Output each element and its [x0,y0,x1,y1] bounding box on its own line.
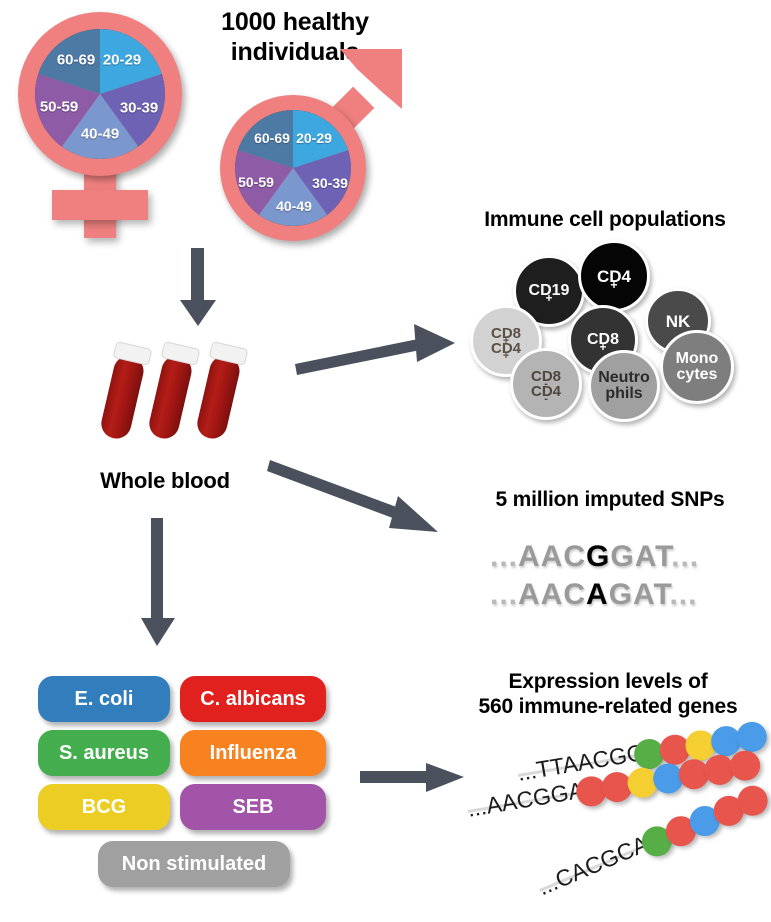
gene-strand-bead [709,791,748,830]
gene-strand-bead [702,753,737,788]
blood-tube-3 [191,342,247,443]
stimulus-pill-label: C. albicans [200,688,306,711]
figure-canvas: 1000 healthy individuals 20-29 30-39 40-… [0,0,771,922]
gene-strand-bead [651,761,686,796]
gene-strand-bead [574,774,609,809]
stimulus-pill-label: SEB [232,796,273,819]
snp-row1-left: AAC [518,540,586,573]
female-symbol-crossbar [52,190,148,220]
gene-strand-bead [733,781,771,820]
snp-title: 5 million imputed SNPs [460,488,760,513]
gene-strand-sequence: ...AACGGAT [465,775,598,823]
gene-strand-bead [661,812,700,851]
gene-strand-backbone [468,761,760,813]
female-symbol: 20-29 30-39 40-49 50-59 60-69 [8,8,198,238]
gene-strand-sequence: ...CACGCAA [534,824,667,901]
arrow-down-blood-to-stimuli [138,518,178,648]
blood-tubes-svg [100,340,280,460]
immune-cell-cd8-cd4: CD8+CD4+ [470,305,542,377]
stimulus-pill-non-stimulated[interactable]: Non stimulated [98,841,290,887]
male-pie-label-50-59: 50-59 [238,174,274,190]
snp-row2-right: GAT [609,578,670,611]
snp-row1-prefix: ... [490,540,518,573]
gene-strand-bead [728,748,763,783]
gene-strand-bead [600,770,635,805]
immune-cell-label: CD8-CD4- [531,369,561,399]
gene-strand-bead [677,757,712,792]
snp-sequence-row-2: ...AACAGAT... [490,578,697,612]
immune-cell-cd19: CD19+ [513,255,585,327]
male-symbol: 20-29 30-39 40-49 50-59 60-69 [206,45,406,245]
snp-row2-variant: A [586,578,609,611]
gene-strand-bead [625,766,660,801]
snp-sequence-row-1: ...AACGGAT... [490,540,699,574]
whole-blood-label: Whole blood [75,468,255,494]
female-pie-label-60-69: 60-69 [57,52,95,69]
immune-cell-label: CD4+ [597,268,631,285]
immune-cell-label: CD8+CD4+ [491,326,521,356]
expression-title-line2: 560 immune-related genes [452,695,764,720]
stimulus-pill-s-aureus[interactable]: S. aureus [38,730,170,776]
male-pie-label-40-49: 40-49 [276,198,312,214]
cohort-title-line1: 1000 healthy [170,8,420,38]
arrow-stimuli-to-expression [360,760,470,796]
immune-cell-neutrophils: Neutrophils [588,350,660,422]
gene-strand-bead [709,724,744,759]
stimulus-pill-label: Non stimulated [122,853,266,876]
immune-cell-label: Monocytes [676,351,719,383]
expression-title-line1: Expression levels of [452,670,764,695]
stimulus-pill-label: Influenza [210,742,297,765]
gene-strand-bead [632,737,667,772]
immune-cell-cd4: CD4+ [578,240,650,312]
snp-row2-suffix: ... [669,578,697,611]
gene-strand-bead [685,801,724,840]
male-pie-label-30-39: 30-39 [312,175,348,191]
gene-strand-backbone [518,732,767,777]
stimulus-pill-seb[interactable]: SEB [180,784,326,830]
gene-strand-backbone [539,793,767,892]
expression-title: Expression levels of 560 immune-related … [452,670,764,720]
immune-cell-label: Neutrophils [598,370,650,402]
arrow-down-cohort-to-blood [178,248,218,328]
stimulus-pill-label: S. aureus [59,742,149,765]
snp-row2-left: AAC [518,578,586,611]
stimulus-pill-label: E. coli [75,688,134,711]
male-pie-label-20-29: 20-29 [296,130,332,146]
snp-row1-right: GAT [610,540,671,573]
gene-strand-sequence: ...TTAACGG [515,739,646,787]
male-pie-label-60-69: 60-69 [254,130,290,146]
gene-strand-bead [683,728,718,763]
female-pie-label-40-49: 40-49 [81,126,119,143]
blood-tube-1 [100,342,152,443]
gene-strand-bead [658,732,693,767]
stimulus-pill-c-albicans[interactable]: C. albicans [180,676,326,722]
immune-cell-cd8-cd4: CD8-CD4- [510,348,582,420]
female-pie-label-50-59: 50-59 [40,99,78,116]
immune-cell-label: CD19+ [529,283,570,299]
snp-row1-suffix: ... [671,540,699,573]
blood-tubes [100,340,280,460]
blood-tube-2 [143,342,199,443]
female-pie-label-30-39: 30-39 [120,100,158,117]
immune-cell-cd8: CD8+ [568,305,638,375]
gene-strand-bead [637,822,676,861]
stimulus-pill-influenza[interactable]: Influenza [180,730,326,776]
immune-cell-title: Immune cell populations [450,208,760,233]
snp-row2-prefix: ... [490,578,518,611]
arrow-blood-to-snps [270,450,450,550]
gene-strand-bead [734,720,769,755]
female-pie-label-20-29: 20-29 [103,52,141,69]
stimulus-pill-label: BCG [82,796,126,819]
stimulus-pill-bcg[interactable]: BCG [38,784,170,830]
immune-cell-nk: NK [645,288,711,354]
immune-cell-monocytes: Monocytes [660,330,734,404]
immune-cell-label: CD8+ [587,332,619,348]
stimulus-pill-e-coli[interactable]: E. coli [38,676,170,722]
snp-row1-variant: G [586,540,610,573]
immune-cell-label: NK [666,313,691,330]
arrow-blood-to-immune-cells [295,318,460,378]
